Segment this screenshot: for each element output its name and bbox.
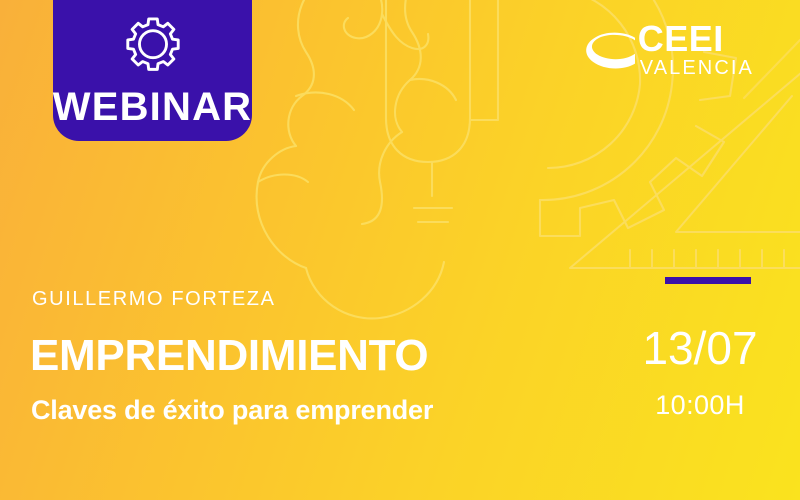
ruler-triangle-icon: [570, 62, 800, 268]
page-title: EMPRENDIMIENTO: [30, 333, 428, 380]
event-time: 10:00H: [600, 392, 800, 419]
accent-divider: [665, 277, 751, 284]
event-date: 13/07: [600, 325, 800, 371]
ceei-name: CEEI: [638, 21, 724, 56]
lightbulb-outline-icon: [386, 0, 470, 222]
brain-outline-icon: [257, 0, 456, 318]
ceei-ring-icon: [583, 27, 637, 77]
ceei-region: VALENCIA: [640, 58, 754, 78]
ceei-logo: CEEI VALENCIA: [583, 21, 754, 78]
webinar-badge: WEBINAR: [53, 0, 252, 141]
talk-subtitle: Claves de éxito para emprender: [31, 396, 433, 426]
gear-outline-secondary-icon: [470, 0, 498, 120]
webinar-promo-poster: WEBINAR CEEI VALENCIA GUILLERMO FORTEZA …: [0, 0, 800, 500]
gear-icon: [120, 15, 186, 81]
webinar-badge-label: WEBINAR: [53, 87, 253, 127]
speaker-name: GUILLERMO FORTEZA: [32, 288, 276, 310]
ceei-wordmark: CEEI VALENCIA: [638, 21, 754, 78]
